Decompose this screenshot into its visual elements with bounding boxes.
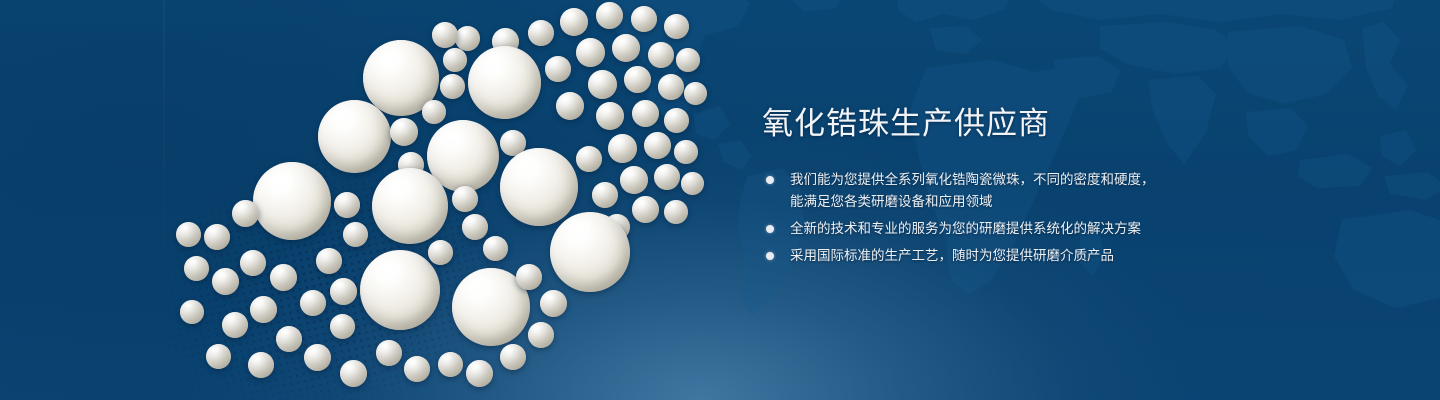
bullet-dot-icon [766, 252, 774, 260]
page-title: 氧化锆珠生产供应商 [762, 104, 1362, 144]
list-item-line: 全新的技术和专业的服务为您的研磨提供系统化的解决方案 [790, 218, 1362, 240]
list-item: 我们能为您提供全系列氧化锆陶瓷微珠，不同的密度和硬度， 能满足您各类研磨设备和应… [762, 169, 1362, 213]
banner-copy: 氧化锆珠生产供应商 我们能为您提供全系列氧化锆陶瓷微珠，不同的密度和硬度， 能满… [762, 104, 1362, 272]
list-item-line: 采用国际标准的生产工艺，随时为您提供研磨介质产品 [790, 245, 1362, 267]
list-item: 采用国际标准的生产工艺，随时为您提供研磨介质产品 [762, 245, 1362, 267]
hero-banner: 氧化锆珠生产供应商 我们能为您提供全系列氧化锆陶瓷微珠，不同的密度和硬度， 能满… [0, 0, 1440, 400]
feature-list: 我们能为您提供全系列氧化锆陶瓷微珠，不同的密度和硬度， 能满足您各类研磨设备和应… [762, 169, 1362, 267]
bullet-dot-icon [766, 225, 774, 233]
list-item-line: 我们能为您提供全系列氧化锆陶瓷微珠，不同的密度和硬度， [790, 169, 1362, 191]
list-item: 全新的技术和专业的服务为您的研磨提供系统化的解决方案 [762, 218, 1362, 240]
list-item-line: 能满足您各类研磨设备和应用领域 [790, 191, 1362, 213]
bullet-dot-icon [766, 176, 774, 184]
